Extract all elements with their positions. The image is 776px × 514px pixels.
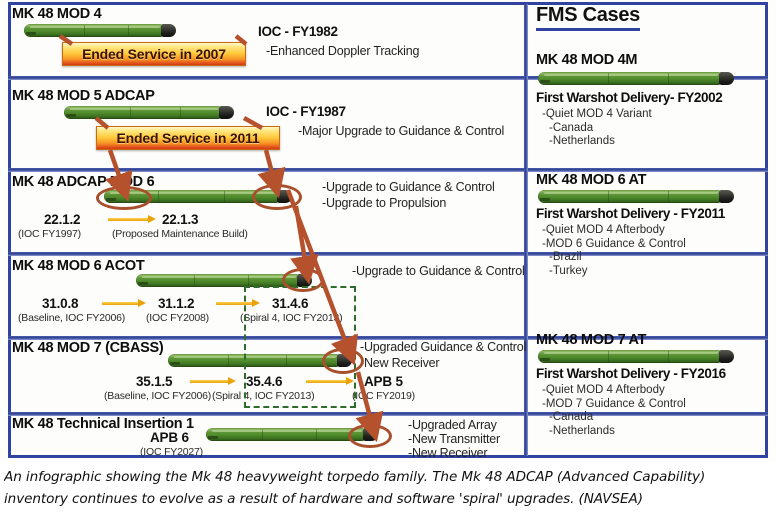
- torpedo-seam: [668, 73, 669, 84]
- row-mod7-title: MK 48 MOD 7 (CBASS): [12, 340, 163, 356]
- torpedo-seam: [130, 107, 131, 118]
- fms-bullet: -MOD 7 Guidance & Control: [536, 398, 726, 412]
- torpedo-graphic-fms3: [538, 350, 734, 362]
- fms-country: -Canada: [536, 122, 722, 136]
- build-arrow-icon: [108, 215, 156, 223]
- torpedo-tailfin: [26, 32, 36, 35]
- ended-service-banner-mod5: Ended Service in 2011: [96, 126, 280, 150]
- figure-caption: An infographic showing the Mk 48 heavywe…: [0, 462, 776, 514]
- torpedo-seam: [248, 275, 249, 286]
- torpedo-seam: [228, 355, 229, 366]
- infographic-canvas: MK 48 MOD 4 Ended Service in 2007 IOC - …: [0, 0, 776, 462]
- fms-cases-heading: FMS Cases: [536, 4, 640, 31]
- ioc-label-mod4: IOC - FY1982: [258, 24, 338, 39]
- note-mod4-1: -Enhanced Doppler Tracking: [266, 44, 419, 59]
- highlight-circle-mod6-tail: [96, 186, 152, 210]
- torpedo-seam: [668, 191, 669, 202]
- torpedo-nose-cone: [719, 190, 734, 203]
- build-version-apb5: APB 5: [364, 374, 403, 389]
- torpedo-highlight: [142, 276, 296, 278]
- note-mod7-1: -Upgraded Guidance & Control: [360, 340, 526, 355]
- build-version-35-1-5: 35.1.5: [136, 374, 172, 389]
- build-version-31-1-2: 31.1.2: [158, 296, 194, 311]
- fms-case-title: MK 48 MOD 6 AT: [536, 172, 646, 188]
- torpedo-graphic-fms1: [538, 72, 734, 84]
- build-arrow-icon: [190, 377, 236, 385]
- torpedo-highlight: [544, 192, 718, 194]
- frame-right-border: [765, 2, 768, 457]
- fms-bullet: -MOD 6 Guidance & Control: [536, 238, 725, 252]
- row-mod4-title: MK 48 MOD 4: [12, 6, 101, 22]
- row-mod5-title: MK 48 MOD 5 ADCAP: [12, 88, 155, 104]
- fms-country: -Brazil: [536, 251, 725, 265]
- torpedo-graphic-fms2: [538, 190, 734, 202]
- build-version-22-1-3: 22.1.3: [162, 212, 198, 227]
- torpedo-highlight: [212, 430, 362, 432]
- fms-country: -Canada: [536, 411, 726, 425]
- red-arrow-mod6-to-acot: [296, 206, 306, 266]
- build-label-35-1-5: (Baseline, IOC FY2006): [104, 390, 211, 402]
- frame-top-border: [8, 2, 768, 5]
- torpedo-highlight: [544, 74, 718, 76]
- fms-bullet: -Quiet MOD 4 Afterbody: [536, 384, 726, 398]
- build-label-apb6: (IOC FY2027): [140, 446, 203, 458]
- note-mod6acot-1: -Upgrade to Guidance & Control: [352, 264, 525, 279]
- highlight-circle-mod7-nose: [322, 348, 364, 374]
- build-label-31-0-8: (Baseline, IOC FY2006): [18, 312, 125, 324]
- highlight-circle-mod6acot-nose: [282, 268, 324, 292]
- fms-country: -Netherlands: [536, 425, 726, 439]
- highlight-circle-ti1-nose: [348, 424, 392, 448]
- build-label-apb5: (IOC FY2019): [352, 390, 415, 402]
- torpedo-graphic-mod5: [64, 106, 234, 119]
- build-version-22-1-2: 22.1.2: [44, 212, 80, 227]
- note-mod5-1: -Major Upgrade to Guidance & Control: [298, 124, 504, 139]
- fms-case-3-details: First Warshot Delivery - FY2016 -Quiet M…: [536, 366, 726, 438]
- note-mod7-2: -New Receiver: [360, 356, 439, 371]
- red-arrow-to-mod6-nose: [266, 150, 274, 180]
- build-label-31-1-2: (IOC FY2008): [146, 312, 209, 324]
- fms-case-title: MK 48 MOD 4M: [536, 52, 637, 68]
- caption-line-1: An infographic showing the Mk 48 heavywe…: [4, 466, 774, 488]
- torpedo-graphic-mod4: [24, 24, 176, 37]
- torpedo-seam: [84, 25, 85, 36]
- torpedo-seam: [158, 191, 159, 202]
- highlight-circle-mod6-nose: [252, 184, 302, 210]
- fms-case-1-details: First Warshot Delivery- FY2002 -Quiet MO…: [536, 90, 722, 149]
- fms-country: -Turkey: [536, 265, 725, 279]
- fms-case-2-details: First Warshot Delivery - FY2011 -Quiet M…: [536, 206, 725, 278]
- torpedo-seam: [194, 275, 195, 286]
- note-ti1-3: -New Receiver: [408, 446, 487, 461]
- fms-delivery-label: First Warshot Delivery - FY2011: [536, 206, 725, 221]
- torpedo-nose-cone: [161, 24, 176, 37]
- ioc-label-mod5: IOC - FY1987: [266, 104, 346, 119]
- torpedo-seam: [180, 107, 181, 118]
- fms-delivery-label: First Warshot Delivery- FY2002: [536, 90, 722, 105]
- torpedo-nose-cone: [719, 350, 734, 363]
- torpedo-highlight: [70, 108, 218, 110]
- torpedo-seam: [262, 429, 263, 440]
- note-ti1-2: -New Transmitter: [408, 432, 500, 447]
- torpedo-tailfin: [170, 362, 180, 365]
- torpedo-highlight: [30, 26, 160, 28]
- build-label-22-1-2: (IOC FY1997): [18, 228, 81, 240]
- frame-bottom-border: [8, 455, 768, 458]
- fms-country: -Netherlands: [536, 135, 722, 149]
- fms-case-2: MK 48 MOD 6 AT: [536, 172, 646, 188]
- row-divider-2: [8, 168, 768, 172]
- fms-bullet: -Quiet MOD 4 Variant: [536, 108, 722, 122]
- column-divider: [524, 4, 528, 456]
- build-arrow-icon: [102, 299, 146, 307]
- torpedo-tailfin: [540, 358, 550, 361]
- torpedo-seam: [608, 351, 609, 362]
- fms-case-1: MK 48 MOD 4M: [536, 52, 637, 68]
- build-label-22-1-3: (Proposed Maintenance Build): [112, 228, 248, 240]
- frame-left-border: [8, 2, 11, 457]
- torpedo-highlight: [544, 352, 718, 354]
- torpedo-tailfin: [138, 282, 148, 285]
- torpedo-seam: [316, 429, 317, 440]
- note-mod6-1: -Upgrade to Guidance & Control: [322, 180, 495, 195]
- fms-case-title: MK 48 MOD 7 AT: [536, 332, 646, 348]
- caption-line-2: inventory continues to evolve as a resul…: [4, 488, 774, 510]
- torpedo-seam: [128, 25, 129, 36]
- torpedo-seam: [224, 191, 225, 202]
- torpedo-tailfin: [540, 198, 550, 201]
- torpedo-nose-cone: [219, 106, 234, 119]
- note-ti1-1: -Upgraded Array: [408, 418, 497, 433]
- fms-delivery-label: First Warshot Delivery - FY2016: [536, 366, 726, 381]
- torpedo-tailfin: [208, 436, 218, 439]
- torpedo-nose-cone: [719, 72, 734, 85]
- build-version-apb6: APB 6: [150, 430, 189, 445]
- fms-bullet: -Quiet MOD 4 Afterbody: [536, 224, 725, 238]
- spiral4-grouping-box: [244, 286, 356, 408]
- row-mod6acot-title: MK 48 MOD 6 ACOT: [12, 258, 144, 274]
- note-mod6-2: -Upgrade to Propulsion: [322, 196, 446, 211]
- ended-service-banner-mod4: Ended Service in 2007: [62, 42, 246, 66]
- fms-case-3: MK 48 MOD 7 AT: [536, 332, 646, 348]
- torpedo-tailfin: [66, 114, 76, 117]
- build-version-31-0-8: 31.0.8: [42, 296, 78, 311]
- torpedo-seam: [608, 73, 609, 84]
- torpedo-tailfin: [540, 80, 550, 83]
- torpedo-seam: [668, 351, 669, 362]
- fms-heading-wrap: FMS Cases: [536, 4, 640, 31]
- torpedo-seam: [608, 191, 609, 202]
